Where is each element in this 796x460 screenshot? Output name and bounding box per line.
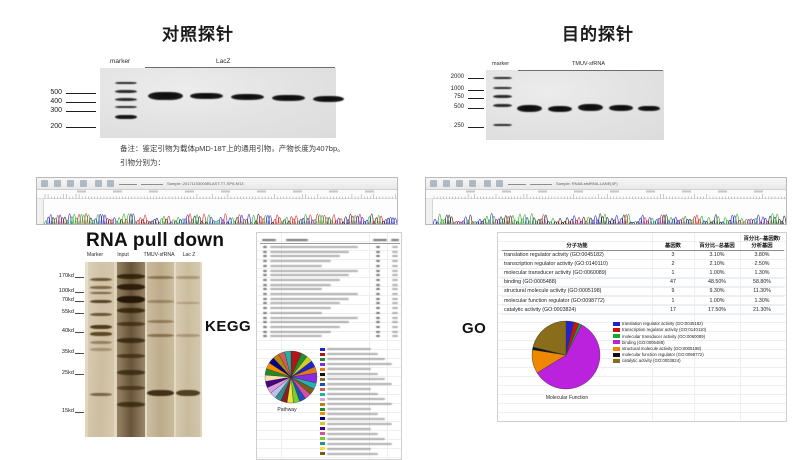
legend-swatch-icon	[320, 348, 325, 351]
table-row	[263, 246, 267, 248]
table-row	[376, 321, 380, 323]
legend-label: translation regulator activity (GO:00451…	[622, 321, 703, 326]
legend-item	[320, 387, 400, 391]
chromatogram-left-ruler	[37, 190, 397, 199]
go-analysis-sheet[interactable]: 分子功能 基因数 百分比--总基因 百分比--基因数/分析基因 translat…	[497, 232, 787, 422]
table-row	[392, 265, 398, 267]
table-row	[270, 317, 358, 319]
kegg-legend	[320, 347, 400, 457]
legend-swatch-icon	[613, 353, 620, 357]
legend-label	[327, 418, 385, 420]
go-cell-term: molecular function regulator (GO:0098772…	[502, 296, 652, 305]
chromatogram-right-axis	[426, 199, 433, 225]
table-row	[392, 331, 398, 333]
go-cell-term: binding (GO:0005488)	[502, 278, 652, 287]
table-row	[392, 284, 398, 286]
go-cell-pct-analyzed: 2.50%	[740, 260, 784, 269]
go-cell-pct-analyzed: 3.80%	[740, 251, 784, 260]
go-label: GO	[462, 320, 486, 337]
legend-item	[320, 372, 400, 376]
legend-item	[320, 367, 400, 371]
table-row	[376, 288, 380, 290]
table-row: translation regulator activity (GO:00451…	[502, 251, 784, 260]
legend-label	[327, 433, 378, 435]
go-legend: translation regulator activity (GO:00451…	[613, 321, 783, 364]
go-cell-pct-total: 17.50%	[694, 306, 740, 315]
table-row	[263, 312, 267, 314]
lane-label-input: Input	[108, 252, 138, 258]
legend-item	[320, 422, 400, 426]
go-cell-term: molecular transducer activity (GO:006008…	[502, 269, 652, 278]
go-cell-term: translation regulator activity (GO:00451…	[502, 251, 652, 260]
go-pie-chart	[530, 319, 602, 391]
table-row	[263, 279, 267, 281]
go-cell-pct-total: 1.00%	[694, 296, 740, 305]
mw-label-25kd: 25kd	[50, 370, 74, 376]
legend-label	[327, 448, 371, 450]
legend-item: catalytic activity (GO:0003824)	[613, 358, 783, 364]
chromatogram-right-viewer[interactable]: Sample: RNA8-sfsfRNA-LANE(4F)	[425, 177, 787, 225]
go-cell-pct-analyzed: 1.30%	[740, 269, 784, 278]
legend-label	[327, 413, 378, 415]
go-cell-count: 1	[652, 269, 694, 278]
mw-label-15kd: 15kd	[50, 408, 74, 414]
table-row	[263, 288, 267, 290]
table-row	[392, 293, 398, 295]
go-cell-pct-total: 9.30%	[694, 287, 740, 296]
print-icon[interactable]	[67, 180, 74, 187]
table-row	[376, 274, 380, 276]
find-icon[interactable]	[95, 180, 102, 187]
legend-item	[320, 402, 400, 406]
table-row	[270, 302, 340, 304]
go-pie-caption: Molecular Function	[512, 395, 622, 401]
panel-target-probe: 目的探针 2000 1000 750 500 250 marker TMUV-s…	[400, 8, 796, 158]
legend-label: molecular transducer activity (GO:006008…	[622, 334, 705, 339]
go-cell-pct-total: 2.10%	[694, 260, 740, 269]
target-probe-gel	[486, 70, 664, 140]
legend-swatch-icon	[320, 437, 325, 440]
chromatogram-right-sample-text: Sample: RNA8-sfsfRNA-LANE(4F)	[556, 181, 618, 186]
legend-item	[320, 412, 400, 416]
table-row	[263, 270, 267, 272]
table-row	[376, 279, 380, 281]
legend-swatch-icon	[320, 398, 325, 401]
legend-swatch-icon	[613, 340, 620, 344]
table-row	[263, 298, 267, 300]
table-row	[263, 302, 267, 304]
go-cell-count: 1	[652, 296, 694, 305]
control-probe-title: 对照探针	[0, 20, 396, 45]
legend-swatch-icon	[320, 383, 325, 386]
save-icon[interactable]	[107, 180, 114, 187]
legend-item	[320, 382, 400, 386]
table-row	[263, 331, 267, 333]
chromatogram-right-ruler	[426, 190, 786, 199]
legend-swatch-icon	[320, 353, 325, 356]
legend-swatch-icon	[613, 328, 620, 332]
table-row	[392, 298, 398, 300]
legend-label: molecular function regulator (GO:0098772…	[622, 352, 704, 357]
figure-page: 对照探针 500 400 300 200 marker LacZ	[0, 0, 796, 460]
legend-label	[327, 363, 392, 365]
legend-label	[327, 378, 385, 380]
table-row	[270, 307, 331, 309]
caption-line-1: 备注：鉴定引物为载体pMD-18T上的通用引物，产物长度为407bp。	[120, 142, 345, 155]
legend-swatch-icon	[320, 388, 325, 391]
legend-label	[327, 383, 392, 385]
legend-label	[327, 358, 385, 360]
caption-line-2: 引物分别为：	[120, 156, 165, 169]
go-cell-pct-analyzed: 11.30%	[740, 287, 784, 296]
table-row	[270, 312, 322, 314]
legend-label	[327, 408, 371, 410]
table-row	[376, 246, 380, 248]
table-row	[392, 317, 398, 319]
rna-pulldown-title: RNA pull down	[86, 230, 224, 252]
table-row	[270, 298, 349, 300]
export-icon[interactable]	[54, 180, 61, 187]
legend-label: transcription regulator activity (GO:014…	[622, 327, 706, 332]
target-lane-underline	[518, 70, 663, 71]
table-row	[376, 312, 380, 314]
legend-label: binding (GO:0005488)	[622, 340, 665, 345]
table-row	[392, 321, 398, 323]
table-row	[263, 251, 267, 253]
table-row	[270, 265, 322, 267]
go-cell-term: transcription regulator activity (GO:014…	[502, 260, 652, 269]
table-row	[392, 255, 398, 257]
control-lane-underline	[145, 67, 335, 68]
chromatogram-left-trace	[37, 199, 397, 225]
export-icon[interactable]	[443, 180, 450, 187]
table-row	[376, 251, 380, 253]
legend-item	[320, 447, 400, 451]
save-icon[interactable]	[496, 180, 503, 187]
legend-label	[327, 353, 378, 355]
table-row	[392, 307, 398, 309]
table-row	[270, 246, 358, 248]
table-row	[270, 326, 340, 328]
table-row	[270, 288, 322, 290]
target-ladder-label-250: 250	[438, 123, 464, 129]
go-cell-count: 9	[652, 287, 694, 296]
legend-label: structural molecule activity (GO:0005198…	[622, 346, 701, 351]
go-cell-pct-total: 3.10%	[694, 251, 740, 260]
legend-item	[320, 417, 400, 421]
table-row	[376, 331, 380, 333]
ladder-label-300: 300	[40, 107, 62, 114]
table-row	[270, 331, 331, 333]
legend-item: transcription regulator activity (GO:014…	[613, 327, 783, 333]
target-lane-group-label: TMUV-sfRNA	[572, 61, 605, 67]
legend-swatch-icon	[320, 393, 325, 396]
kegg-pie-chart	[263, 349, 319, 405]
legend-swatch-icon	[613, 322, 620, 326]
control-probe-gel	[100, 68, 336, 138]
table-row: molecular transducer activity (GO:006008…	[502, 269, 784, 278]
chromatogram-right-toolbar[interactable]: Sample: RNA8-sfsfRNA-LANE(4F)	[426, 178, 786, 190]
table-row	[270, 335, 322, 337]
panel-control-probe: 对照探针 500 400 300 200 marker LacZ	[0, 8, 396, 158]
chromatogram-left-axis	[37, 199, 44, 225]
table-row	[263, 326, 267, 328]
mw-label-170kd: 170kd	[50, 273, 74, 279]
print-icon[interactable]	[456, 180, 463, 187]
go-cell-pct-analyzed: 21.30%	[740, 306, 784, 315]
legend-label: catalytic activity (GO:0003824)	[622, 358, 681, 363]
legend-swatch-icon	[320, 432, 325, 435]
control-marker-label: marker	[110, 58, 130, 65]
legend-label	[327, 368, 371, 370]
go-cell-pct-analyzed: 1.30%	[740, 296, 784, 305]
legend-label	[327, 393, 378, 395]
table-row: structural molecule activity (GO:0005198…	[502, 287, 784, 296]
legend-item	[320, 397, 400, 401]
kegg-table	[260, 237, 400, 342]
legend-swatch-icon	[320, 442, 325, 445]
table-row	[263, 293, 267, 295]
legend-item	[320, 352, 400, 356]
table-row	[376, 335, 380, 337]
reset-icon[interactable]	[80, 180, 87, 187]
go-col-term: 分子功能	[502, 235, 652, 251]
legend-label	[327, 428, 371, 430]
legend-label	[327, 443, 392, 445]
table-row	[392, 251, 398, 253]
target-probe-title: 目的探针	[400, 20, 796, 45]
lane-label-tmuv-sfrna: TMUV-sfRNA	[139, 252, 179, 258]
go-cell-pct-analyzed: 58.80%	[740, 278, 784, 287]
kegg-label: KEGG	[205, 318, 251, 335]
ladder-label-500: 500	[40, 89, 62, 96]
legend-label	[327, 373, 378, 375]
open-icon[interactable]	[430, 180, 437, 187]
table-row	[392, 288, 398, 290]
legend-item	[320, 392, 400, 396]
table-row	[263, 317, 267, 319]
table-row	[270, 321, 349, 323]
table-row	[392, 246, 398, 248]
legend-swatch-icon	[613, 334, 620, 338]
legend-swatch-icon	[613, 347, 620, 351]
target-marker-label: marker	[492, 61, 509, 67]
go-cell-count: 47	[652, 278, 694, 287]
table-row	[376, 260, 380, 262]
legend-swatch-icon	[320, 408, 325, 411]
table-row	[376, 307, 380, 309]
legend-item	[320, 362, 400, 366]
target-ladder-label-750: 750	[438, 94, 464, 100]
lane-label-lacz: Lac Z	[175, 252, 203, 258]
table-row	[392, 302, 398, 304]
mw-label-100kd: 100kd	[50, 288, 74, 294]
go-col-pct-analyzed: 百分比--基因数/分析基因	[740, 235, 784, 251]
legend-item: translation regulator activity (GO:00451…	[613, 321, 783, 327]
legend-swatch-icon	[320, 412, 325, 415]
legend-swatch-icon	[613, 359, 620, 363]
mw-label-40kd: 40kd	[50, 328, 74, 334]
find-icon[interactable]	[484, 180, 491, 187]
open-icon[interactable]	[41, 180, 48, 187]
table-row	[392, 335, 398, 337]
legend-label	[327, 453, 378, 455]
legend-item: binding (GO:0005488)	[613, 340, 783, 346]
legend-item	[320, 347, 400, 351]
go-cell-count: 17	[652, 306, 694, 315]
legend-item: structural molecule activity (GO:0005198…	[613, 346, 783, 352]
chromatogram-left-toolbar[interactable]: Sample: 20171103000BLAST-T7-SP6-M13	[37, 178, 397, 190]
ladder-label-200: 200	[40, 123, 62, 130]
legend-label	[327, 398, 385, 400]
table-row	[376, 255, 380, 257]
table-row: molecular function regulator (GO:0098772…	[502, 296, 784, 305]
table-row	[270, 293, 358, 295]
table-row	[392, 326, 398, 328]
legend-item	[320, 442, 400, 446]
table-row	[270, 251, 349, 253]
legend-item	[320, 432, 400, 436]
chromatogram-left-viewer[interactable]: Sample: 20171103000BLAST-T7-SP6-M13	[36, 177, 398, 225]
table-row	[376, 265, 380, 267]
legend-swatch-icon	[320, 447, 325, 450]
table-row: catalytic activity (GO:0003824)1717.50%2…	[502, 306, 784, 315]
kegg-table-header	[260, 237, 400, 244]
table-row	[376, 298, 380, 300]
kegg-analysis-sheet[interactable]: Pathway	[256, 232, 402, 460]
go-cell-pct-total: 1.00%	[694, 269, 740, 278]
table-row	[376, 284, 380, 286]
table-row	[263, 284, 267, 286]
go-cell-term: structural molecule activity (GO:0005198…	[502, 287, 652, 296]
target-ladder-label-500: 500	[438, 104, 464, 110]
mw-label-70kd: 70kd	[50, 297, 74, 303]
table-row	[392, 312, 398, 314]
table-row	[392, 274, 398, 276]
go-cell-pct-total: 48.50%	[694, 278, 740, 287]
legend-swatch-icon	[320, 452, 325, 455]
legend-swatch-icon	[320, 358, 325, 361]
table-row	[376, 317, 380, 319]
table-row	[392, 260, 398, 262]
control-lane-group-label: LacZ	[216, 58, 230, 65]
legend-item	[320, 452, 400, 456]
legend-swatch-icon	[320, 373, 325, 376]
target-ladder-label-1000: 1000	[438, 86, 464, 92]
legend-swatch-icon	[320, 363, 325, 366]
go-molecular-function-table: 分子功能 基因数 百分比--总基因 百分比--基因数/分析基因 translat…	[502, 235, 784, 315]
legend-swatch-icon	[320, 417, 325, 420]
legend-label	[327, 403, 392, 405]
lane-label-marker: Marker	[78, 252, 112, 258]
go-table-body: translation regulator activity (GO:00451…	[502, 251, 784, 315]
legend-item	[320, 357, 400, 361]
legend-swatch-icon	[320, 422, 325, 425]
table-row	[263, 307, 267, 309]
legend-item	[320, 427, 400, 431]
go-col-pct-total: 百分比--总基因	[694, 235, 740, 251]
ladder-label-400: 400	[40, 98, 62, 105]
mw-label-35kd: 35kd	[50, 349, 74, 355]
legend-swatch-icon	[320, 427, 325, 430]
go-cell-count: 3	[652, 251, 694, 260]
legend-item	[320, 437, 400, 441]
go-table-header-row: 分子功能 基因数 百分比--总基因 百分比--基因数/分析基因	[502, 235, 784, 251]
legend-swatch-icon	[320, 378, 325, 381]
table-row	[376, 270, 380, 272]
table-row	[376, 302, 380, 304]
table-row	[392, 270, 398, 272]
target-ladder-label-2000: 2000	[438, 74, 464, 80]
table-row	[376, 293, 380, 295]
table-row	[376, 326, 380, 328]
legend-label	[327, 423, 392, 425]
go-cell-term: catalytic activity (GO:0003824)	[502, 306, 652, 315]
table-row	[270, 274, 349, 276]
legend-item	[320, 407, 400, 411]
table-row	[270, 260, 331, 262]
legend-swatch-icon	[320, 403, 325, 406]
legend-label	[327, 388, 371, 390]
go-col-count: 基因数	[652, 235, 694, 251]
table-row	[263, 274, 267, 276]
legend-item	[320, 377, 400, 381]
legend-item: molecular transducer activity (GO:006008…	[613, 333, 783, 339]
legend-item: molecular function regulator (GO:0098772…	[613, 352, 783, 358]
table-row	[270, 279, 340, 281]
table-row	[270, 255, 340, 257]
table-row	[263, 265, 267, 267]
table-row	[263, 321, 267, 323]
chromatogram-right-trace	[426, 199, 786, 225]
mw-label-55kd: 55kd	[50, 309, 74, 315]
legend-swatch-icon	[320, 368, 325, 371]
rna-pulldown-gel	[85, 262, 202, 437]
legend-label	[327, 348, 371, 350]
legend-label	[327, 438, 385, 440]
table-row	[392, 279, 398, 281]
table-row	[270, 284, 331, 286]
table-row	[270, 270, 358, 272]
table-row: binding (GO:0005488)4748.50%58.80%	[502, 278, 784, 287]
go-cell-count: 2	[652, 260, 694, 269]
table-row: transcription regulator activity (GO:014…	[502, 260, 784, 269]
table-row	[263, 260, 267, 262]
table-row	[263, 255, 267, 257]
chromatogram-left-sample-text: Sample: 20171103000BLAST-T7-SP6-M13	[167, 181, 243, 186]
reset-icon[interactable]	[469, 180, 476, 187]
table-row	[263, 335, 267, 337]
